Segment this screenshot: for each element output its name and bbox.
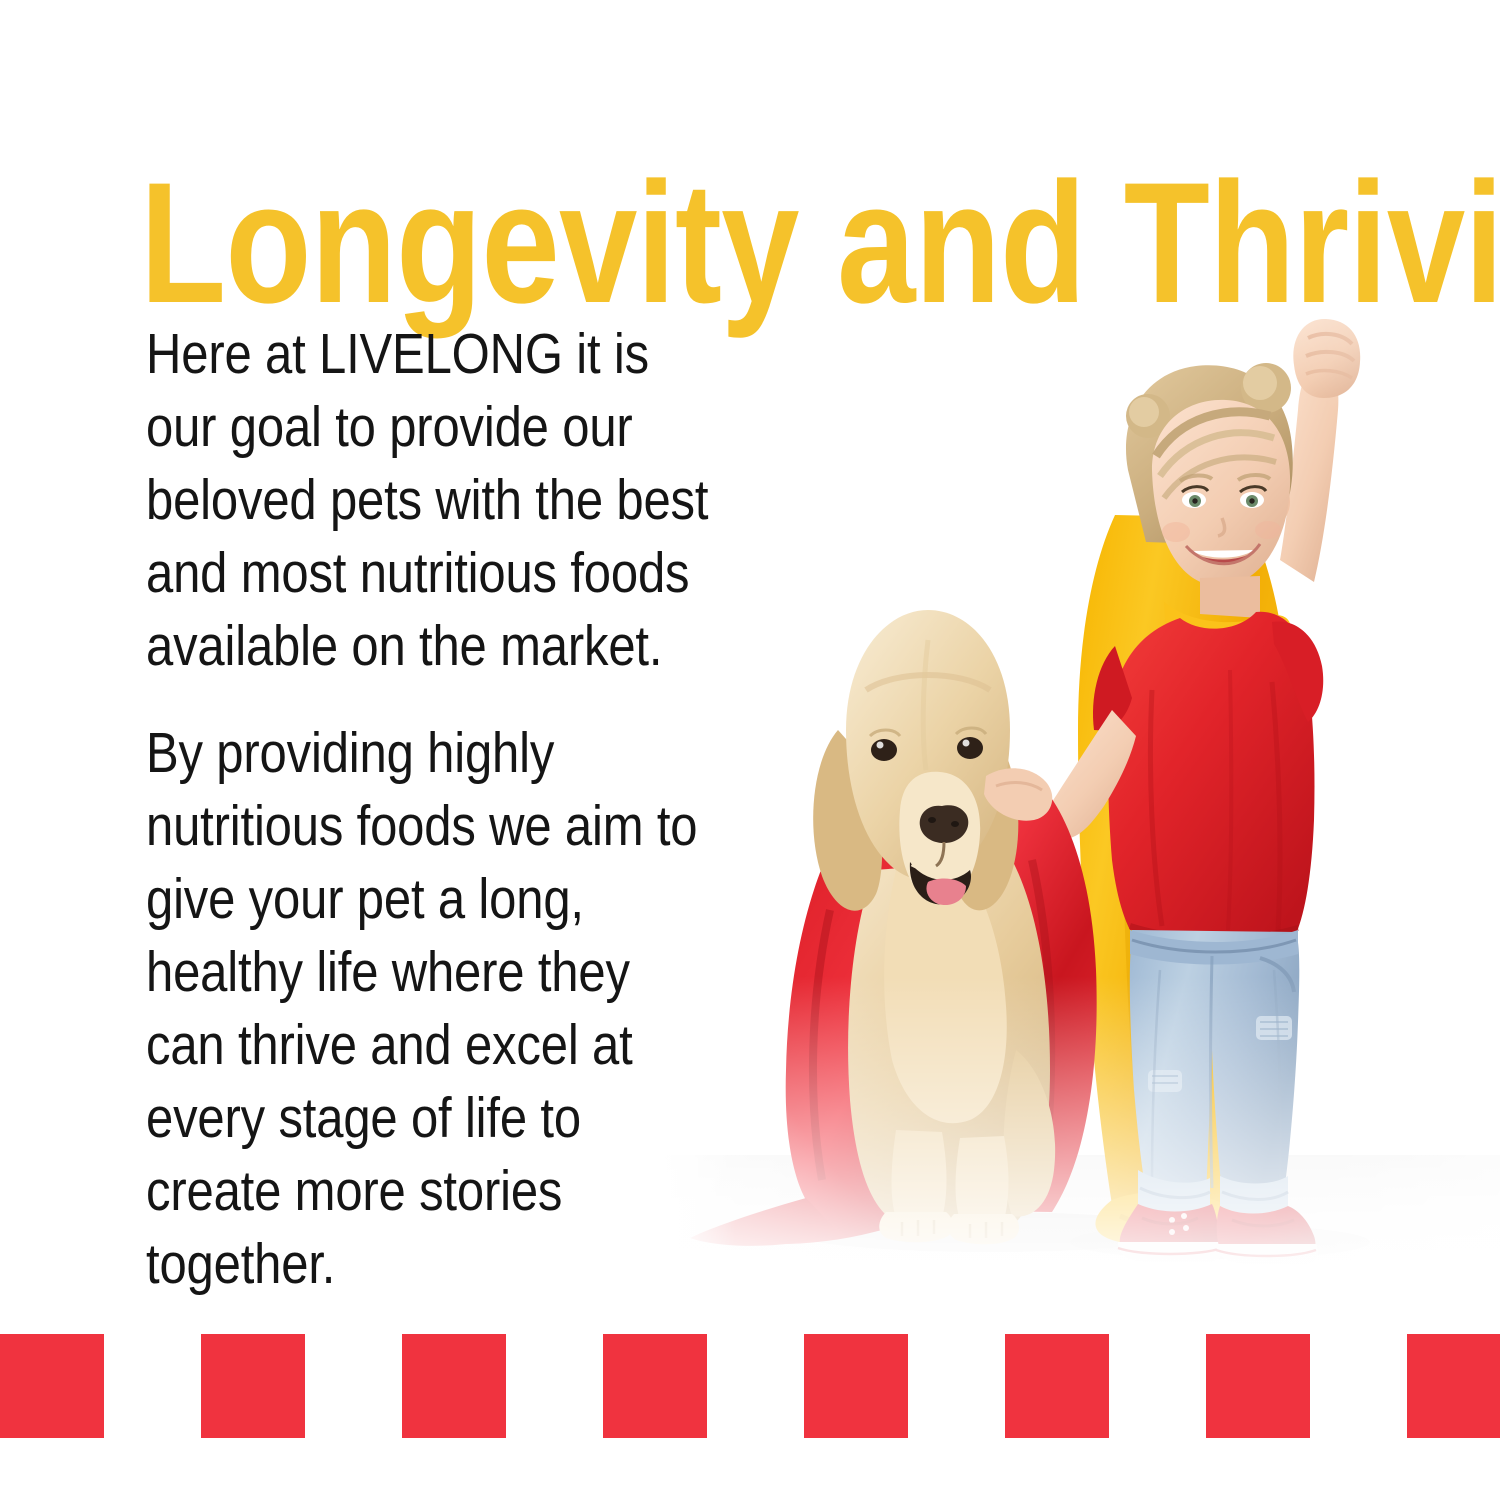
red-square-1 <box>0 1334 104 1438</box>
red-square-5 <box>804 1334 908 1438</box>
red-square-7 <box>1206 1334 1310 1438</box>
red-square-6 <box>1005 1334 1109 1438</box>
red-square-2 <box>201 1334 305 1438</box>
poster-canvas: Longevity and Thriving Life Here at LIVE… <box>0 0 1500 1500</box>
paragraph-mission: Here at LIVELONG it is our goal to provi… <box>146 318 714 683</box>
paragraph-promise: By providing highly nutritious foods we … <box>146 717 714 1301</box>
red-square-8 <box>1407 1334 1500 1438</box>
body-copy: Here at LIVELONG it is our goal to provi… <box>146 318 806 1301</box>
red-square-strip <box>0 1334 1500 1438</box>
red-square-4 <box>603 1334 707 1438</box>
red-square-3 <box>402 1334 506 1438</box>
page-title: Longevity and Thriving Life <box>140 159 1149 327</box>
